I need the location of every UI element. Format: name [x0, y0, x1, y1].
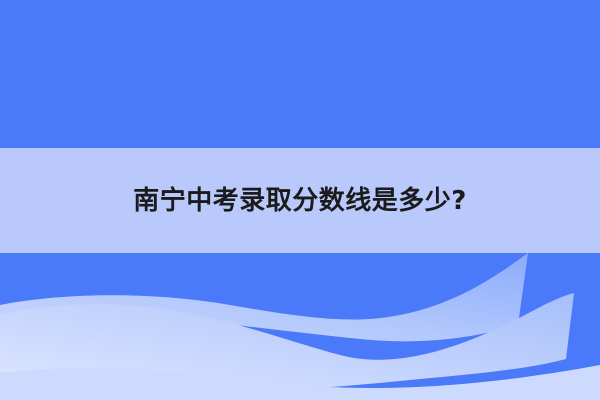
page-title: 南宁中考录取分数线是多少? [133, 188, 467, 214]
promo-banner: 南宁中考录取分数线是多少? [0, 0, 600, 400]
top-blue-band [0, 0, 600, 148]
bottom-wave-band [0, 253, 600, 400]
headline-band: 南宁中考录取分数线是多少? [0, 148, 600, 253]
wave-decoration [0, 253, 600, 400]
